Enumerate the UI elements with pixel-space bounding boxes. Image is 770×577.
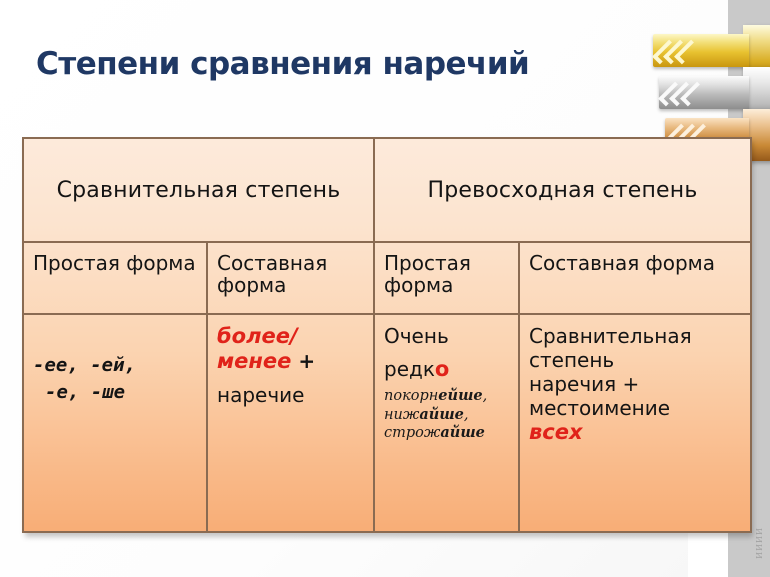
compound-comparative-plus: + (291, 349, 315, 373)
example-stem: покорн (384, 388, 438, 404)
example-suffix: айше (440, 424, 485, 441)
slide-root: ИИИИ Степени сравнения наречий (0, 0, 770, 577)
table-row-top-headers: Сравнительная степень Превосходная степе… (23, 138, 751, 242)
example-item: нижайше, (384, 406, 511, 425)
gold-ribbon (653, 34, 770, 67)
compound-superlative-line-3: наречия + (529, 372, 743, 396)
example-stem: строж (384, 425, 440, 441)
compound-superlative-line-1: Сравнительная (529, 324, 743, 348)
table-row-sub-headers: Простая форма Составная форма Простая фо… (23, 242, 751, 314)
compound-superlative-red-word: всех (529, 420, 743, 445)
example-stem: ниж (384, 407, 419, 423)
silver-chevron-icon (665, 82, 699, 102)
gold-chevron-icon (659, 40, 693, 60)
award-ribbons-decoration (645, 14, 770, 144)
subheader-compound-form-superlative: Составная форма (519, 242, 751, 314)
watermark-text: ИИИИ (755, 527, 764, 559)
compound-comparative-red-1: более/ (217, 324, 366, 349)
subheader-compound-form-comparative: Составная форма (207, 242, 374, 314)
cell-simple-comparative: -ее, -ей, -е, -ше (23, 314, 207, 532)
subheader-simple-form-superlative: Простая форма (374, 242, 519, 314)
example-tail: , (464, 407, 469, 423)
compound-superlative-line-2: степень (529, 348, 743, 372)
compound-comparative-red-2-row: менее + (217, 349, 366, 374)
simple-superlative-line-2: редко (384, 357, 511, 382)
example-tail: , (483, 388, 488, 404)
example-item: покорнейше, (384, 387, 511, 406)
header-superlative-degree: Превосходная степень (374, 138, 751, 242)
header-comparative-degree: Сравнительная степень (23, 138, 374, 242)
subheader-simple-form-comparative: Простая форма (23, 242, 207, 314)
simple-superlative-examples: покорнейше, нижайше, строжайше (384, 387, 511, 443)
cell-simple-superlative: Очень редко покорнейше, нижайше, строжай… (374, 314, 519, 532)
cell-compound-superlative: Сравнительная степень наречия + местоиме… (519, 314, 751, 532)
comparison-table-wrapper: Сравнительная степень Превосходная степе… (22, 137, 750, 533)
suffix-line-2: -е, -ше (33, 379, 199, 407)
simple-superlative-stem: редк (384, 357, 435, 381)
simple-superlative-line-1: Очень (384, 324, 511, 348)
compound-comparative-red-2: менее (217, 349, 291, 373)
example-suffix: айше (419, 406, 464, 423)
suffix-line-1: -ее, -ей, (33, 352, 199, 380)
degrees-of-comparison-table: Сравнительная степень Превосходная степе… (22, 137, 752, 533)
compound-superlative-line-4: местоимение (529, 396, 743, 420)
simple-superlative-red-ending: о (435, 357, 449, 381)
example-item: строжайше (384, 424, 511, 443)
page-title: Степени сравнения наречий (36, 46, 529, 82)
table-row-content: -ее, -ей, -е, -ше более/ менее + наречие (23, 314, 751, 532)
silver-ribbon (659, 76, 770, 109)
example-suffix: ейше (438, 387, 482, 404)
cell-compound-comparative: более/ менее + наречие (207, 314, 374, 532)
compound-comparative-black: наречие (217, 383, 366, 407)
